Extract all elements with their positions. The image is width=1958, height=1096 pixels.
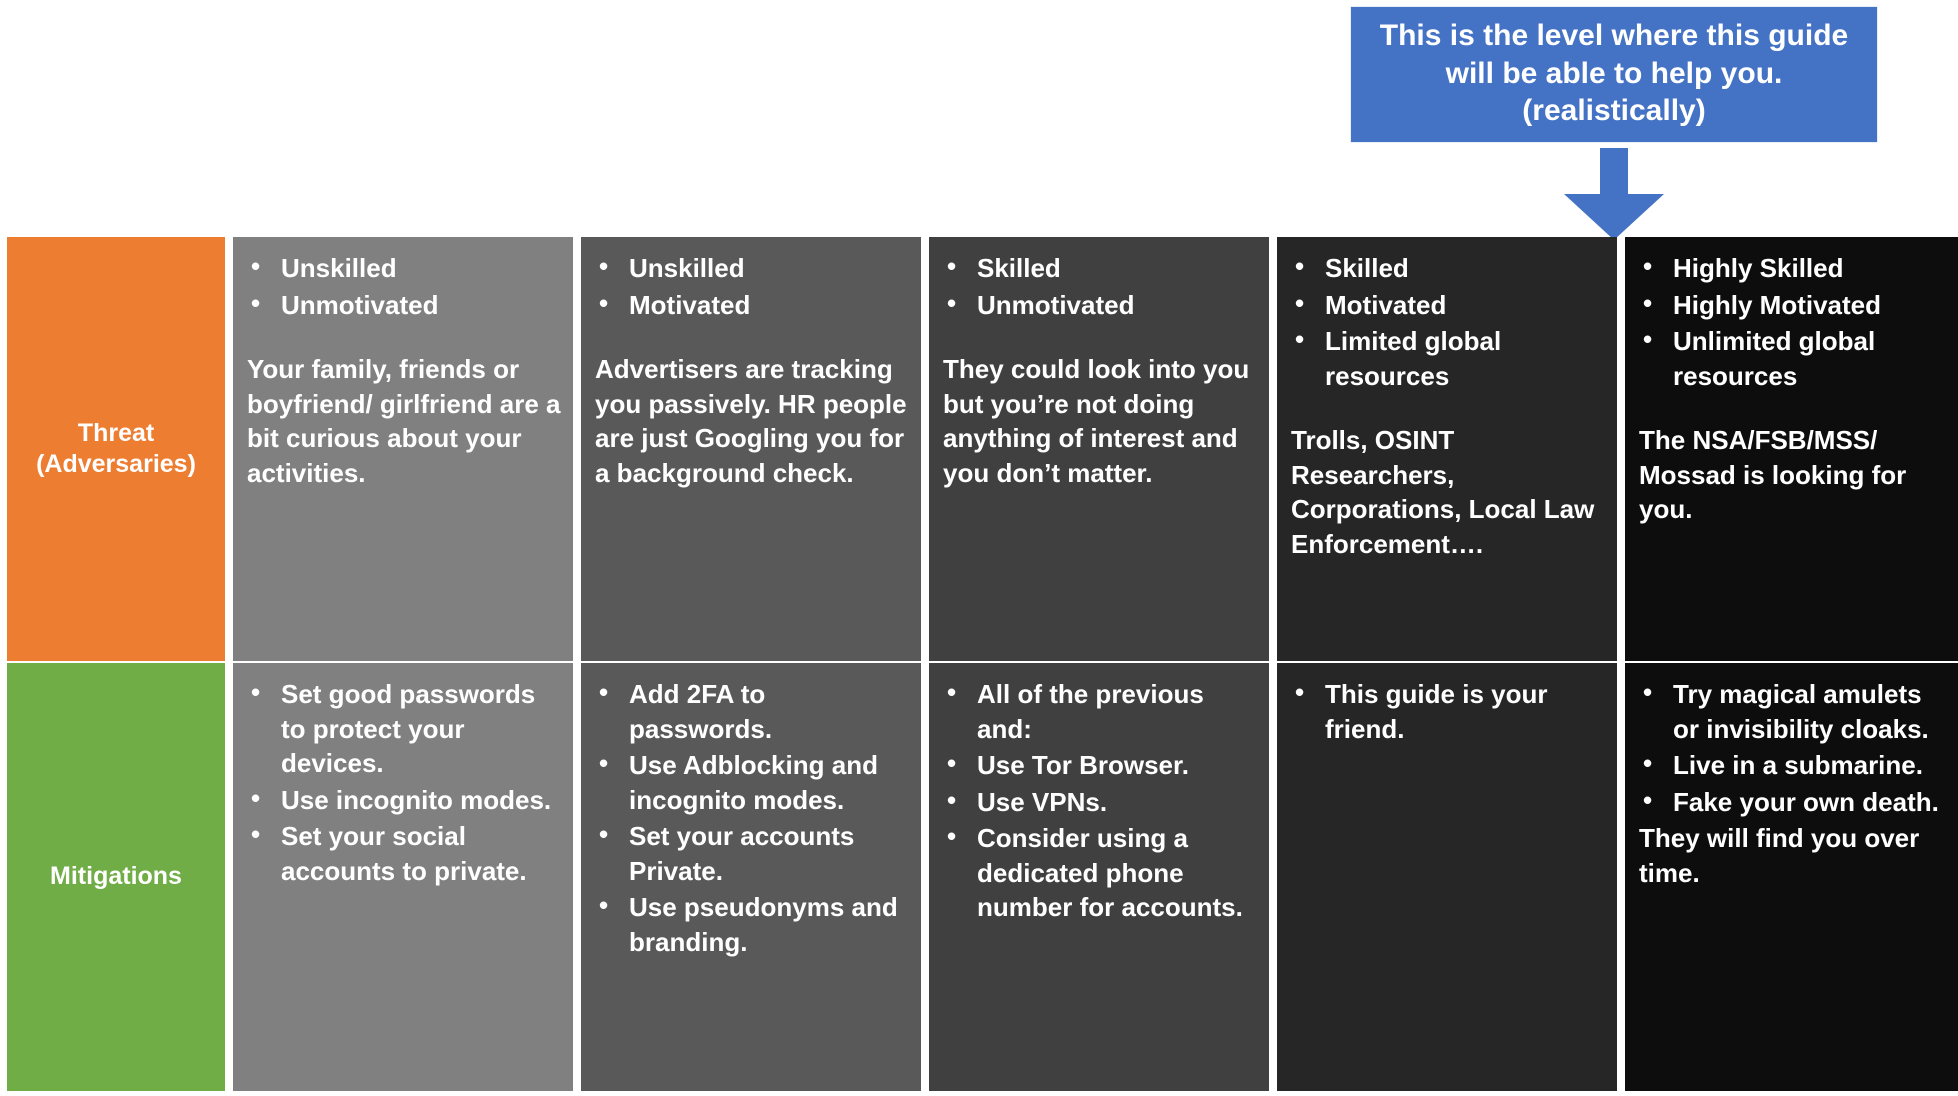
threat-cell-3: Skilled Unmotivated They could look into…: [929, 237, 1269, 661]
callout-line-1: This is the level where this guide: [1363, 17, 1865, 55]
threat-cell-4-bullets: Skilled Motivated Limited global resourc…: [1291, 251, 1605, 393]
mitigation-cell-4: This guide is your friend.: [1277, 663, 1617, 1091]
list-item: Try magical amulets or invisibility cloa…: [1673, 677, 1954, 746]
row-label-threat-text: Threat (Adversaries): [36, 418, 196, 481]
mitigation-cell-3-bullets: All of the previous and: Use Tor Browser…: [943, 677, 1257, 925]
spacer: [1291, 395, 1605, 423]
spacer: [595, 324, 909, 352]
threat-cell-5: Highly Skilled Highly Motivated Unlimite…: [1625, 237, 1958, 661]
list-item: Use VPNs.: [977, 785, 1257, 820]
threat-cell-5-paragraph: The NSA/FSB/MSS/ Mossad is looking for y…: [1639, 423, 1954, 527]
threat-cell-2: Unskilled Motivated Advertisers are trac…: [581, 237, 921, 661]
threat-cell-1: Unskilled Unmotivated Your family, frien…: [233, 237, 573, 661]
list-item: Consider using a dedicated phone number …: [977, 821, 1257, 925]
list-item: All of the previous and:: [977, 677, 1257, 746]
threat-cell-2-bullets: Unskilled Motivated: [595, 251, 909, 322]
list-item: Motivated: [1325, 288, 1605, 323]
threat-cell-1-bullets: Unskilled Unmotivated: [247, 251, 561, 322]
list-item: Live in a submarine.: [1673, 748, 1954, 783]
row-label-threat: Threat (Adversaries): [7, 237, 225, 661]
mitigation-cell-2: Add 2FA to passwords. Use Adblocking and…: [581, 663, 921, 1091]
list-item: Use Adblocking and incognito modes.: [629, 748, 909, 817]
list-item: Highly Skilled: [1673, 251, 1954, 286]
list-item: Set your accounts Private.: [629, 819, 909, 888]
threat-cell-4-paragraph: Trolls, OSINT Researchers, Corporations,…: [1291, 423, 1605, 561]
down-arrow-icon: [1528, 148, 1700, 240]
threat-model-matrix: Threat (Adversaries) Unskilled Unmotivat…: [7, 237, 1944, 1089]
callout-line-3: (realistically): [1363, 92, 1865, 130]
list-item: Use incognito modes.: [281, 783, 561, 818]
list-item: Set good passwords to protect your devic…: [281, 677, 561, 781]
list-item: Unmotivated: [281, 288, 561, 323]
callout-box: This is the level where this guide will …: [1350, 6, 1878, 143]
list-item: Use pseudonyms and branding.: [629, 890, 909, 959]
mitigation-cell-5: Try magical amulets or invisibility cloa…: [1625, 663, 1958, 1091]
list-item: Unlimited global resources: [1673, 324, 1954, 393]
mitigation-cell-5-bullets: Try magical amulets or invisibility cloa…: [1639, 677, 1954, 819]
list-item: Motivated: [629, 288, 909, 323]
threat-cell-3-paragraph: They could look into you but you’re not …: [943, 352, 1257, 490]
threat-cell-3-bullets: Skilled Unmotivated: [943, 251, 1257, 322]
mitigation-cell-5-paragraph: They will find you over time.: [1639, 821, 1954, 890]
list-item: Highly Motivated: [1673, 288, 1954, 323]
mitigation-cell-4-bullets: This guide is your friend.: [1291, 677, 1605, 746]
list-item: This guide is your friend.: [1325, 677, 1605, 746]
callout-line-2: will be able to help you.: [1363, 55, 1865, 93]
mitigation-cell-1-bullets: Set good passwords to protect your devic…: [247, 677, 561, 888]
callout-annotation: This is the level where this guide will …: [1350, 6, 1878, 236]
list-item: Unskilled: [629, 251, 909, 286]
row-label-mitigations-text: Mitigations: [50, 861, 182, 892]
mitigation-cell-3: All of the previous and: Use Tor Browser…: [929, 663, 1269, 1091]
threat-cell-2-paragraph: Advertisers are tracking you passively. …: [595, 352, 909, 490]
spacer: [1639, 395, 1954, 423]
list-item: Use Tor Browser.: [977, 748, 1257, 783]
mitigation-cell-1: Set good passwords to protect your devic…: [233, 663, 573, 1091]
spacer: [943, 324, 1257, 352]
list-item: Skilled: [977, 251, 1257, 286]
list-item: Unskilled: [281, 251, 561, 286]
spacer: [247, 324, 561, 352]
threat-cell-5-bullets: Highly Skilled Highly Motivated Unlimite…: [1639, 251, 1954, 393]
list-item: Unmotivated: [977, 288, 1257, 323]
list-item: Add 2FA to passwords.: [629, 677, 909, 746]
list-item: Fake your own death.: [1673, 785, 1954, 820]
list-item: Skilled: [1325, 251, 1605, 286]
threat-cell-4: Skilled Motivated Limited global resourc…: [1277, 237, 1617, 661]
threat-cell-1-paragraph: Your family, friends or boyfriend/ girlf…: [247, 352, 561, 490]
list-item: Limited global resources: [1325, 324, 1605, 393]
row-label-mitigations: Mitigations: [7, 663, 225, 1091]
mitigation-cell-2-bullets: Add 2FA to passwords. Use Adblocking and…: [595, 677, 909, 960]
list-item: Set your social accounts to private.: [281, 819, 561, 888]
